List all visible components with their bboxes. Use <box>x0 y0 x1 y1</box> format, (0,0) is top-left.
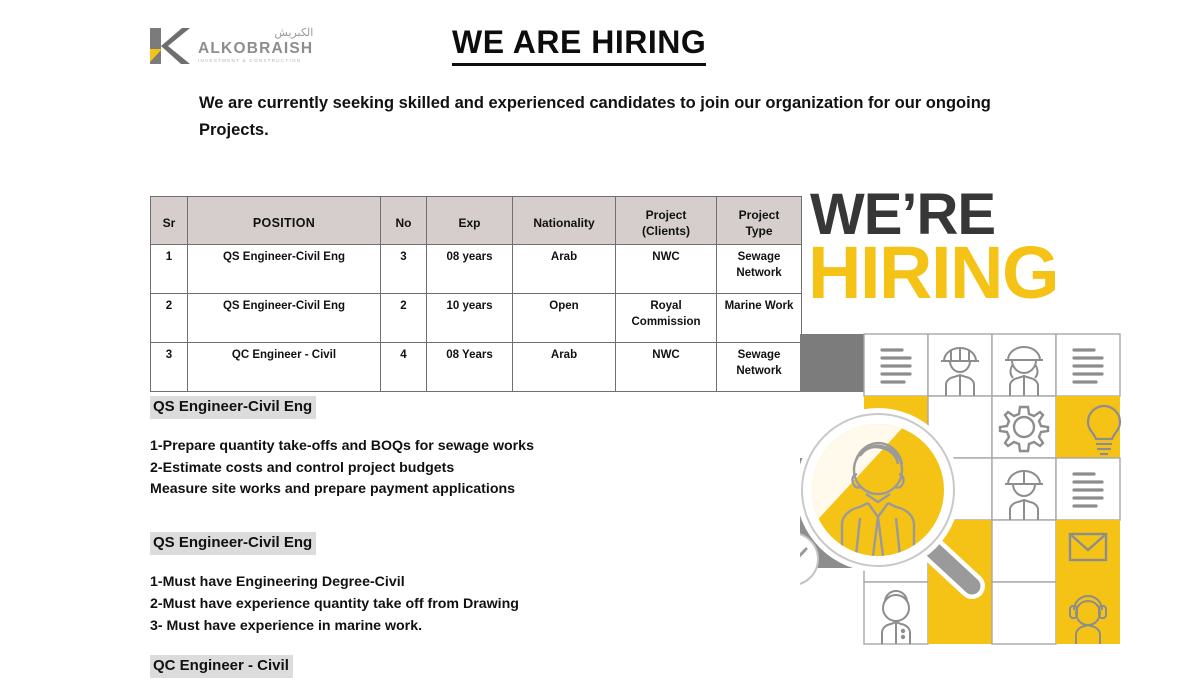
cell-project: NWC <box>616 245 717 294</box>
cell-position: QS Engineer-Civil Eng <box>188 245 381 294</box>
job-duty-list: 1-Prepare quantity take-offs and BOQs fo… <box>150 436 770 501</box>
cell-project: Royal Commission <box>616 294 717 343</box>
graphic-headline-hiring: HIRING <box>808 236 1058 310</box>
cell-sr: 1 <box>151 245 188 294</box>
logo-tagline: INVESTMENT & CONSTRUCTION <box>198 59 313 64</box>
page-title: WE ARE HIRING <box>452 26 706 66</box>
section-spacer <box>150 519 770 532</box>
col-header-project-line2: (Clients) <box>618 223 714 239</box>
cell-exp: 08 years <box>427 245 513 294</box>
job-section-qs-2: QS Engineer-Civil Eng 1-Must have Engine… <box>150 532 770 637</box>
job-duty-item: 2-Estimate costs and control project bud… <box>150 458 770 480</box>
hiring-illustration <box>800 328 1200 680</box>
job-section-heading: QC Engineer - Civil <box>150 655 293 678</box>
col-header-exp: Exp <box>427 197 513 245</box>
table-header-row: Sr POSITION No Exp Nationality Project (… <box>151 197 802 245</box>
job-duty-item: 1-Prepare quantity take-offs and BOQs fo… <box>150 436 770 458</box>
col-header-project-clients: Project (Clients) <box>616 197 717 245</box>
vacancy-table: Sr POSITION No Exp Nationality Project (… <box>150 196 802 392</box>
cell-no: 3 <box>381 245 427 294</box>
company-logo: الكبريش ALKOBRAISH INVESTMENT & CONSTRUC… <box>148 22 348 70</box>
table-row: 3 QC Engineer - Civil 4 08 Years Arab NW… <box>151 343 802 392</box>
job-duty-item: 2-Must have experience quantity take off… <box>150 594 770 616</box>
job-duty-list: 1-Must have Engineering Degree-Civil 2-M… <box>150 572 770 637</box>
cell-nationality: Arab <box>513 343 616 392</box>
intro-paragraph: We are currently seeking skilled and exp… <box>199 90 999 143</box>
cell-sr: 2 <box>151 294 188 343</box>
col-header-nationality: Nationality <box>513 197 616 245</box>
cell-no: 4 <box>381 343 427 392</box>
cell-position: QS Engineer-Civil Eng <box>188 294 381 343</box>
col-header-no: No <box>381 197 427 245</box>
col-header-type-line2: Type <box>719 223 799 239</box>
job-duty-item: 3- Must have experience in marine work. <box>150 616 770 638</box>
cell-position: QC Engineer - Civil <box>188 343 381 392</box>
cell-exp: 08 Years <box>427 343 513 392</box>
cell-sr: 3 <box>151 343 188 392</box>
job-section-qs-1: QS Engineer-Civil Eng 1-Prepare quantity… <box>150 396 770 501</box>
job-section-qc: QC Engineer - Civil <box>150 655 770 678</box>
job-section-heading: QS Engineer-Civil Eng <box>150 396 316 419</box>
col-header-project-line1: Project <box>618 207 714 223</box>
hiring-graphic: WE’RE HIRING <box>800 178 1200 680</box>
cell-project-type: Sewage Network <box>717 245 802 294</box>
job-duty-item: Measure site works and prepare payment a… <box>150 479 770 501</box>
col-header-type-line1: Project <box>719 207 799 223</box>
cell-nationality: Arab <box>513 245 616 294</box>
logo-company-name: ALKOBRAISH <box>198 41 313 57</box>
logo-arabic-text: الكبريش <box>198 28 313 40</box>
table-row: 1 QS Engineer-Civil Eng 3 08 years Arab … <box>151 245 802 294</box>
col-header-sr: Sr <box>151 197 188 245</box>
col-header-project-type: Project Type <box>717 197 802 245</box>
job-duty-item: 1-Must have Engineering Degree-Civil <box>150 572 770 594</box>
logo-k-mark <box>148 25 190 67</box>
job-descriptions: QS Engineer-Civil Eng 1-Prepare quantity… <box>150 396 770 696</box>
job-section-heading: QS Engineer-Civil Eng <box>150 532 316 555</box>
col-header-position: POSITION <box>188 197 381 245</box>
table-row: 2 QS Engineer-Civil Eng 2 10 years Open … <box>151 294 802 343</box>
cell-project: NWC <box>616 343 717 392</box>
cell-project-type: Marine Work <box>717 294 802 343</box>
cell-no: 2 <box>381 294 427 343</box>
cell-project-type: Sewage Network <box>717 343 802 392</box>
cell-nationality: Open <box>513 294 616 343</box>
cell-exp: 10 years <box>427 294 513 343</box>
